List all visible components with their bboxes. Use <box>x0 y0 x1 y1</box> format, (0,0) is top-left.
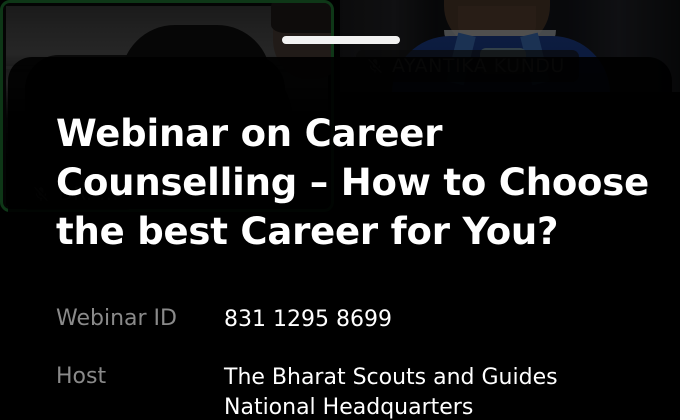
tile-left-person-hair <box>271 0 334 33</box>
detail-value-webinar-id: 831 1295 8699 <box>224 305 392 335</box>
webinar-screen: AYANTIKA KUNDU DR. ... Webinar on Career… <box>0 0 680 420</box>
webinar-title: Webinar on Career Counselling – How to C… <box>56 109 654 256</box>
detail-label-webinar-id: Webinar ID <box>56 305 224 333</box>
webinar-info-sheet: Webinar on Career Counselling – How to C… <box>8 57 672 420</box>
sheet-drag-handle[interactable] <box>282 36 400 44</box>
detail-value-host: The Bharat Scouts and Guides National He… <box>224 363 558 420</box>
webinar-detail-list: Webinar ID 831 1295 8699 Host The Bharat… <box>56 305 658 420</box>
detail-row-host: Host The Bharat Scouts and Guides Nation… <box>56 363 658 420</box>
detail-label-host: Host <box>56 363 224 391</box>
detail-row-webinar-id: Webinar ID 831 1295 8699 <box>56 305 658 335</box>
